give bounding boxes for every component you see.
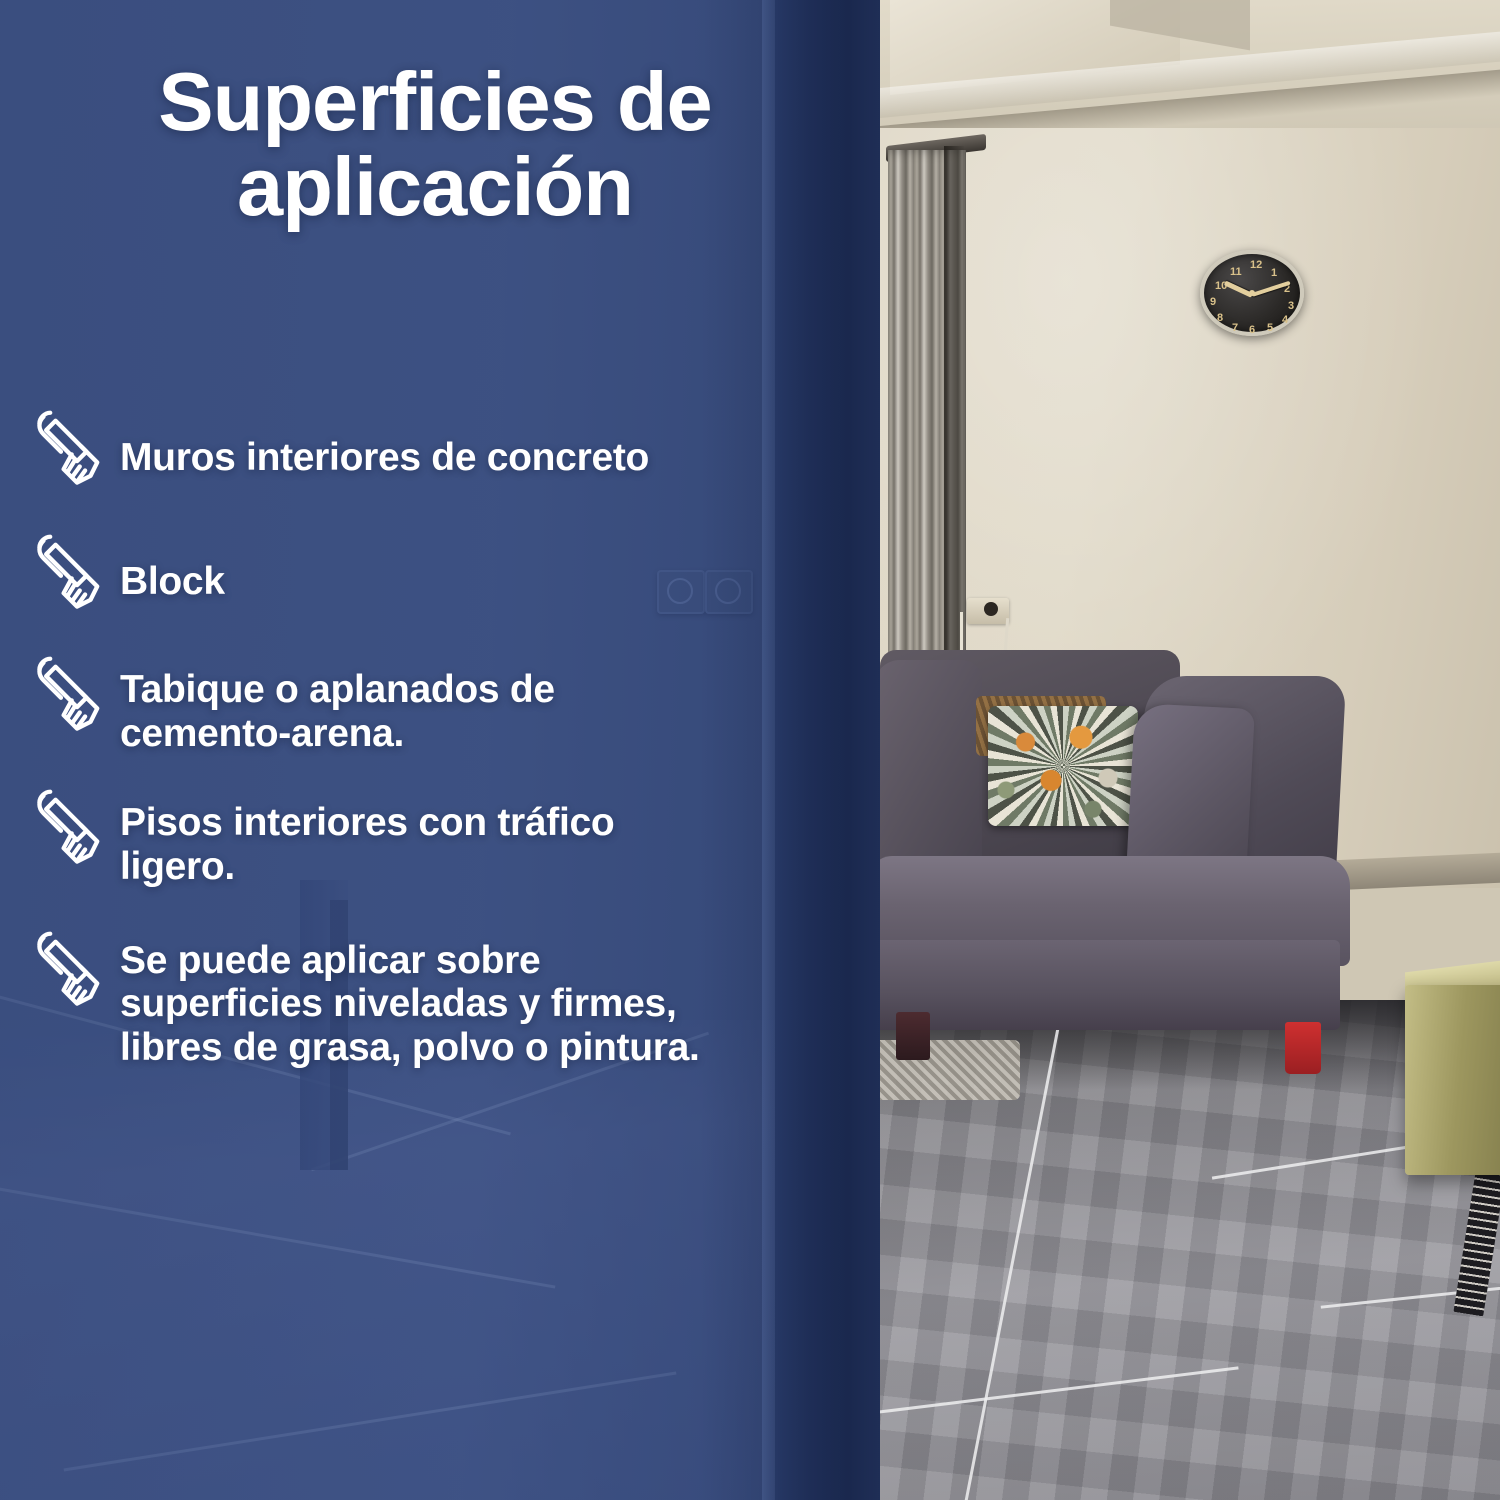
clock-numeral-4: 4 [1282, 314, 1288, 326]
paintbrush-icon [26, 530, 112, 616]
list-item: Muros interiores de concreto [26, 412, 876, 492]
clock-numeral-5: 5 [1267, 322, 1273, 334]
sofa-base [880, 940, 1340, 1030]
floral-cushion [988, 706, 1138, 826]
list-item-label: Tabique o aplanados de cemento-arena. [120, 658, 555, 755]
surfaces-list: Muros interiores de concreto Block [26, 412, 876, 1104]
list-item-label: Pisos interiores con tráfico ligero. [120, 791, 614, 888]
list-item: Tabique o aplanados de cemento-arena. [26, 658, 876, 755]
clock-numeral-9: 9 [1210, 296, 1216, 308]
red-sofa-foot [1285, 1022, 1321, 1074]
clock-numeral-1: 1 [1271, 267, 1277, 279]
sofa-foot-dark [896, 1012, 930, 1060]
clock-numeral-11: 11 [1230, 266, 1242, 278]
paintbrush-icon [26, 406, 112, 492]
sofa-armrest-left [880, 660, 982, 860]
clock-hour-hand [1224, 281, 1253, 298]
list-item-label: Muros interiores de concreto [120, 412, 649, 480]
list-item: Pisos interiores con tráfico ligero. [26, 791, 876, 888]
wall-clock: 12 1 2 3 4 5 6 7 8 9 10 11 [1200, 250, 1304, 336]
list-item: Block [26, 536, 876, 616]
olive-ottoman [1405, 985, 1500, 1175]
paintbrush-icon [26, 652, 112, 738]
list-item-label: Block [120, 536, 225, 604]
clock-center-pin [1249, 290, 1255, 296]
poster-root: 12 1 2 3 4 5 6 7 8 9 10 11 [0, 0, 1500, 1500]
clock-numeral-6: 6 [1249, 324, 1255, 336]
page-title: Superficies de aplicación [40, 60, 830, 229]
list-item-label: Se puede aplicar sobre superficies nivel… [120, 933, 700, 1070]
clock-numeral-3: 3 [1288, 300, 1294, 312]
paintbrush-icon [26, 927, 112, 1013]
clock-numeral-7: 7 [1232, 322, 1238, 334]
living-room-photo: 12 1 2 3 4 5 6 7 8 9 10 11 [880, 0, 1500, 1500]
paintbrush-icon [26, 785, 112, 871]
clock-numeral-12: 12 [1250, 259, 1262, 271]
clock-numeral-8: 8 [1217, 312, 1223, 324]
list-item: Se puede aplicar sobre superficies nivel… [26, 933, 876, 1070]
content-layer: Superficies de aplicación Muros interior… [0, 0, 880, 1500]
